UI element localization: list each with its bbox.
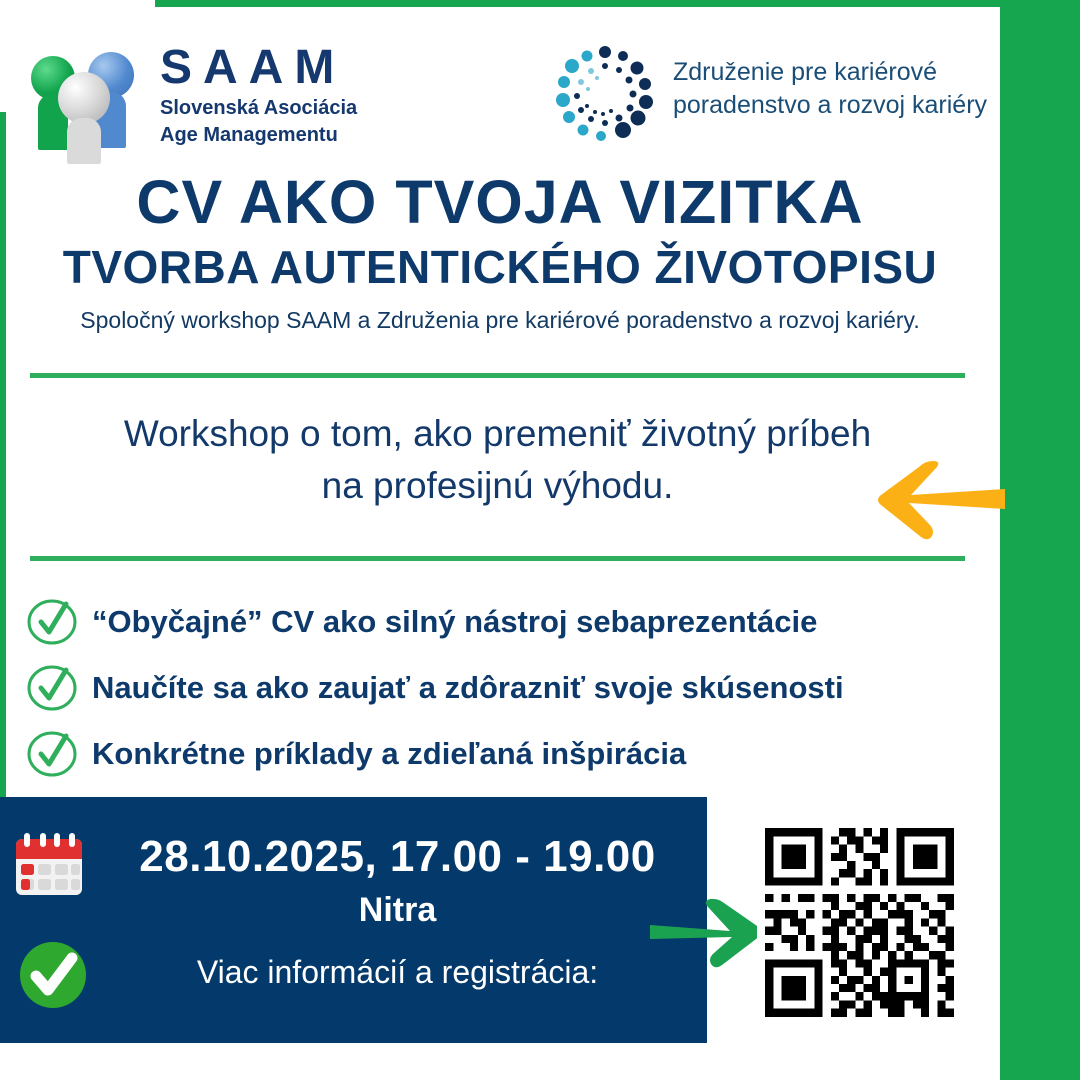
list-item-label: “Obyčajné” CV ako silný nástroj sebaprez…	[92, 602, 817, 642]
zdruzenie-wordmark: Združenie pre kariérové poradenstvo a ro…	[673, 56, 987, 122]
event-city: Nitra	[100, 887, 695, 933]
qr-code[interactable]	[757, 820, 962, 1025]
check-circle-icon	[26, 664, 78, 712]
list-item-label: Konkrétne príklady a zdieľaná inšpirácia	[92, 734, 686, 774]
dot-circle-icon	[555, 46, 655, 146]
saam-subtitle-line1: Slovenská Asociácia	[160, 96, 357, 121]
saam-logo: SAAM Slovenská Asociácia Age Managementu	[30, 42, 360, 147]
statement-line2: na profesijnú výhodu.	[20, 460, 975, 512]
registration-label: Viac informácií a registrácia:	[100, 949, 695, 995]
list-item-label: Naučíte sa ako zaujať a zdôrazniť svoje …	[92, 668, 844, 708]
arrow-left-orange-icon	[875, 455, 1005, 540]
check-circle-icon	[26, 598, 78, 646]
poster-canvas: SAAM Slovenská Asociácia Age Managementu	[0, 0, 1080, 1080]
divider-bottom	[30, 556, 965, 561]
saam-subtitle-line2: Age Managementu	[160, 123, 357, 148]
list-item: Konkrétne príklady a zdieľaná inšpirácia	[26, 730, 986, 778]
zdruzenie-line1: Združenie pre kariérové	[673, 56, 987, 89]
statement-line1: Workshop o tom, ako premeniť životný prí…	[20, 408, 975, 460]
event-details-panel: 28.10.2025, 17.00 - 19.00 Nitra Viac inf…	[0, 797, 707, 1043]
benefits-list: “Obyčajné” CV ako silný nástroj sebaprez…	[26, 598, 986, 796]
page-tagline: Spoločný workshop SAAM a Združenia pre k…	[0, 304, 1000, 336]
list-item: “Obyčajné” CV ako silný nástroj sebaprez…	[26, 598, 986, 646]
figure-grey-icon	[56, 72, 112, 156]
check-circle-icon	[26, 730, 78, 778]
page-title: CV AKO TVOJA VIZITKA	[0, 168, 1000, 236]
check-badge-icon	[16, 938, 90, 1012]
zdruzenie-logo: Združenie pre kariérové poradenstvo a ro…	[555, 38, 995, 148]
frame-bar-top	[155, 0, 1080, 7]
logo-row: SAAM Slovenská Asociácia Age Managementu	[0, 20, 1000, 145]
list-item: Naučíte sa ako zaujať a zdôrazniť svoje …	[26, 664, 986, 712]
saam-wordmark: SAAM Slovenská Asociácia Age Managementu	[160, 42, 357, 148]
headline-block: CV AKO TVOJA VIZITKA TVORBA AUTENTICKÉHO…	[0, 168, 1000, 336]
event-datetime: 28.10.2025, 17.00 - 19.00	[100, 829, 695, 885]
saam-title: SAAM	[160, 42, 357, 94]
saam-figures-icon	[30, 50, 150, 145]
arrow-right-green-icon	[650, 895, 765, 970]
statement-block: Workshop o tom, ako premeniť životný prí…	[20, 408, 975, 512]
frame-bar-right	[1000, 0, 1080, 1080]
divider-top	[30, 373, 965, 378]
page-subtitle: TVORBA AUTENTICKÉHO ŽIVOTOPISU	[0, 238, 1000, 296]
zdruzenie-line2: poradenstvo a rozvoj kariéry	[673, 89, 987, 122]
calendar-icon	[14, 833, 84, 899]
